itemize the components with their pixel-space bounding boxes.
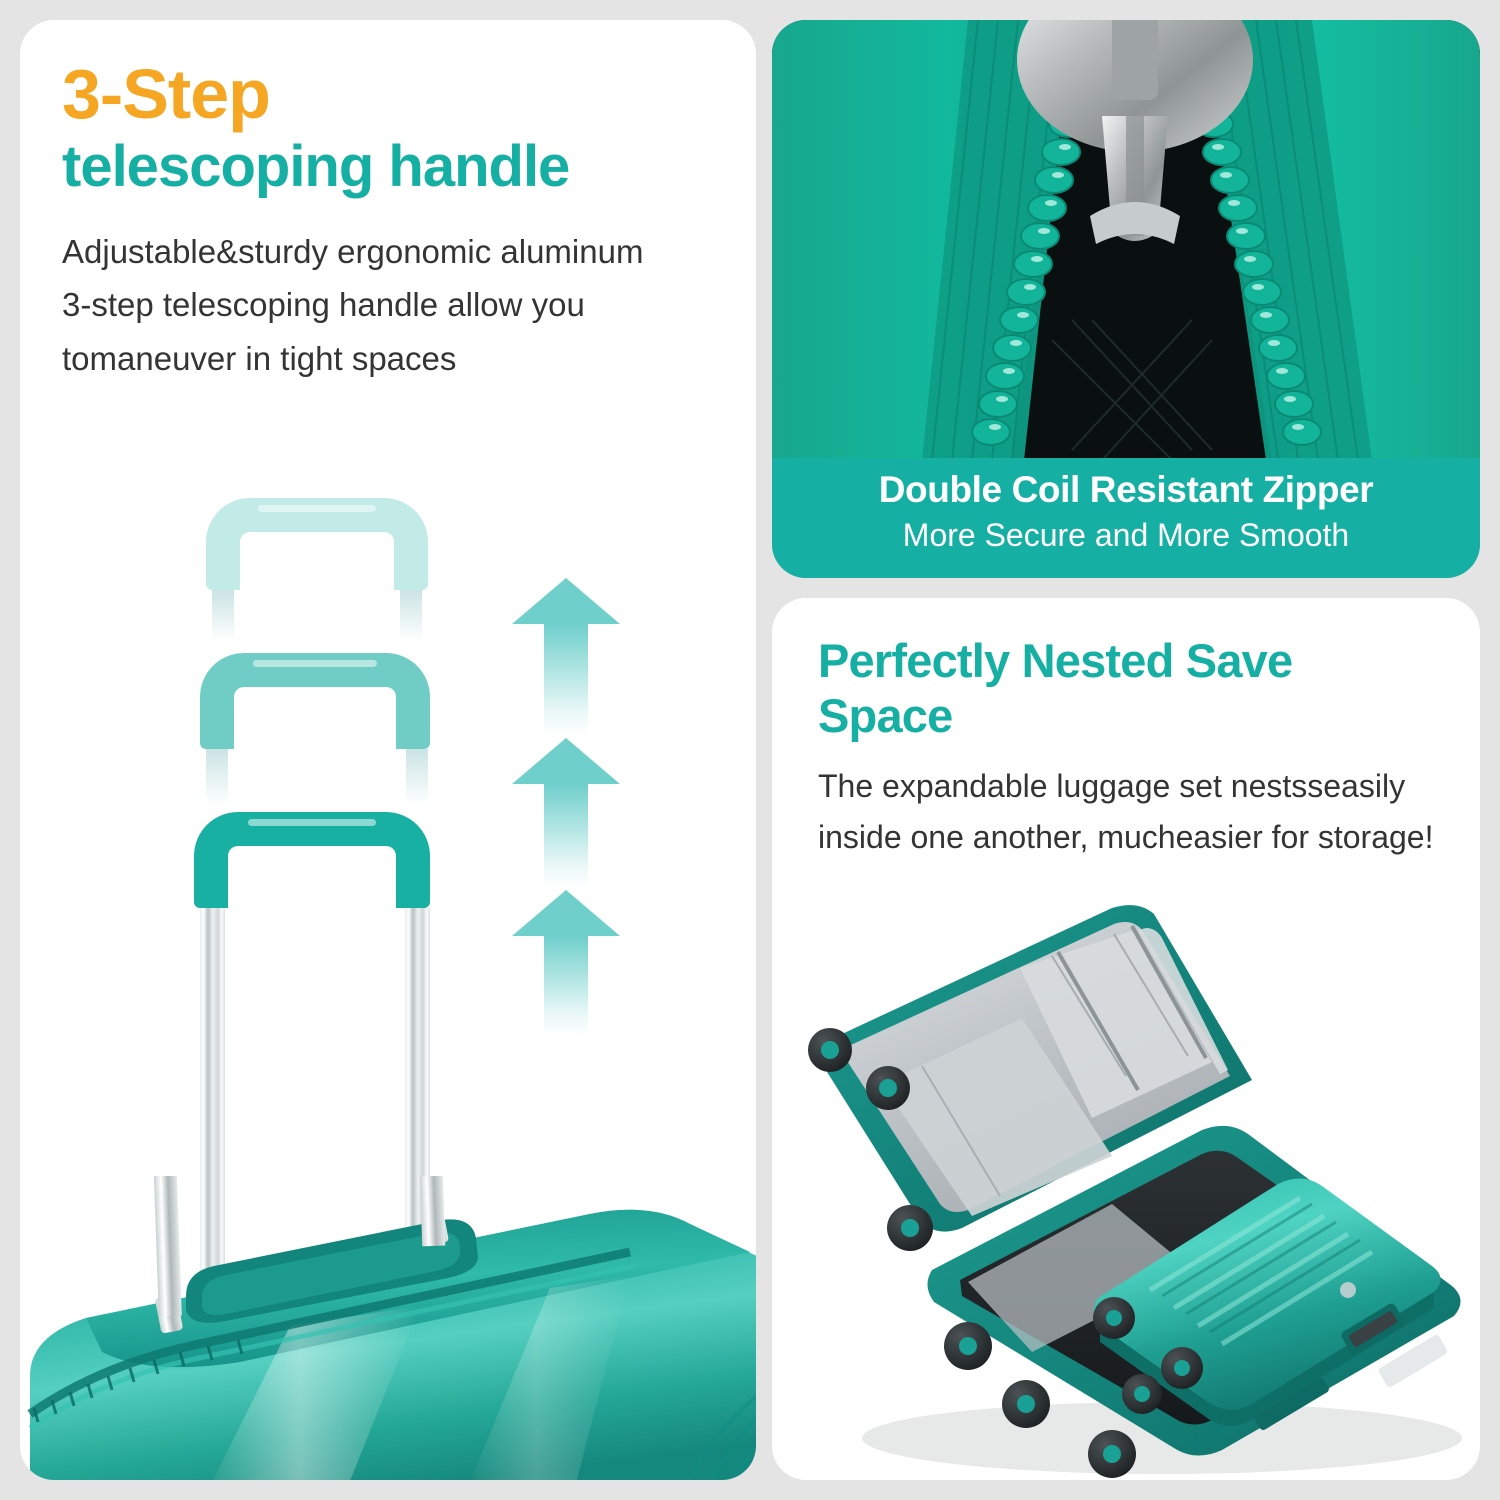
- zipper-photo: [772, 20, 1480, 460]
- nested-body-copy: The expandable luggage set nestsseasily …: [818, 761, 1438, 862]
- handle-stub: [212, 590, 234, 642]
- zipper-caption-subtitle: More Secure and More Smooth: [772, 517, 1480, 554]
- nested-title: Perfectly Nested Save Space: [818, 634, 1438, 743]
- suitcase-photo: [20, 1176, 756, 1480]
- handle-headline-bottom: telescoping handle: [62, 135, 732, 199]
- panel-zipper: Double Coil Resistant Zipper More Secure…: [772, 20, 1480, 578]
- infographic-page: 3-Step telescoping handle Adjustable&stu…: [0, 0, 1500, 1500]
- panel-nested-space: Perfectly Nested Save Space The expandab…: [772, 598, 1480, 1480]
- zipper-caption: Double Coil Resistant Zipper More Secure…: [772, 458, 1480, 578]
- nested-luggage-photo: [782, 898, 1480, 1478]
- zipper-caption-title: Double Coil Resistant Zipper: [772, 469, 1480, 511]
- handle-grip-stage-1: [206, 498, 428, 590]
- handle-headline-top: 3-Step: [62, 58, 732, 131]
- panel-telescoping-handle: 3-Step telescoping handle Adjustable&stu…: [20, 20, 756, 1480]
- handle-stub: [206, 749, 228, 805]
- up-arrow-icon: [512, 738, 620, 888]
- up-arrow-icon: [512, 890, 620, 1036]
- handle-headline-group: 3-Step telescoping handle Adjustable&stu…: [62, 58, 732, 385]
- handle-stub: [400, 590, 422, 642]
- up-arrow-icon: [512, 578, 620, 736]
- handle-body-copy: Adjustable&sturdy ergonomic aluminum 3-s…: [62, 225, 672, 385]
- handle-grip-stage-3: [194, 812, 430, 908]
- handle-grip-stage-2: [200, 653, 430, 749]
- handle-stub: [406, 749, 428, 805]
- nested-text-group: Perfectly Nested Save Space The expandab…: [818, 634, 1438, 862]
- telescoping-handle-illustration: [20, 490, 756, 1480]
